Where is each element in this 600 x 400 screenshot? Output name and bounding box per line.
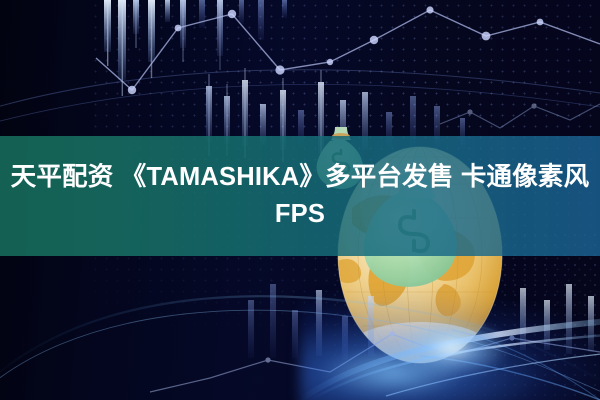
glow-bloom-core (392, 318, 512, 378)
headline-line-2: FPS (275, 198, 325, 231)
line-chart-top (96, 6, 600, 94)
headline-line-1: 天平配资 《TAMASHIKA》多平台发售 卡通像素风 (11, 161, 590, 194)
headline-text-group: 天平配资 《TAMASHIKA》多平台发售 卡通像素风 FPS (0, 136, 600, 256)
candlestick-chart-top (104, 0, 287, 96)
banner-image: 天平配资 《TAMASHIKA》多平台发售 卡通像素风 FPS (0, 0, 600, 400)
